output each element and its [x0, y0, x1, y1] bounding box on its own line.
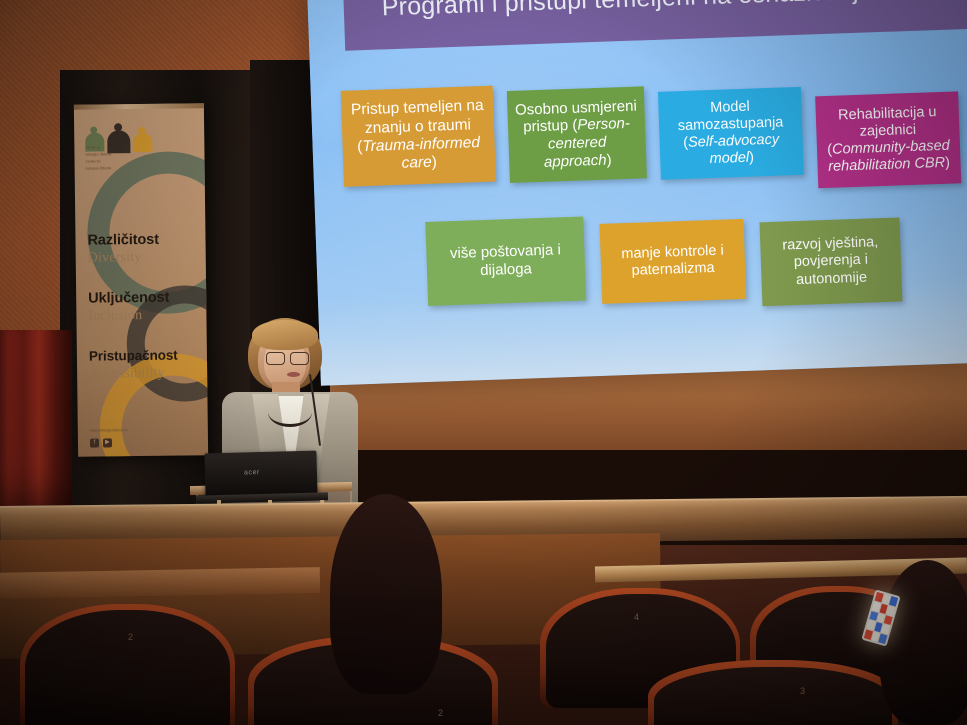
box3-italic: Self-advocacy model — [688, 132, 780, 168]
glasses-lens-left — [266, 352, 285, 365]
banner-top-rail — [74, 103, 204, 110]
seat-number-e: 3 — [800, 686, 805, 696]
banner-heading-diversity-hr: Različitost — [87, 232, 159, 249]
logo-subtitle-line4: Inclusion Šibenik — [86, 165, 158, 173]
banner-heading-accessibility-hr: Pristupačnost — [89, 348, 178, 364]
logo-subtitle: Centar za inkluziju i Šibenik Centre for… — [85, 144, 157, 173]
youtube-icon: ▶ — [103, 438, 112, 447]
logo-dot-gold — [138, 127, 145, 134]
glasses-lens-right — [290, 352, 309, 365]
seat-number-a: 2 — [128, 632, 133, 642]
audience-member-front-left — [330, 494, 442, 694]
speaker-necklace — [268, 398, 312, 427]
banner-heading-diversity-en: Diversity — [88, 250, 142, 267]
seat-number-c: 4 — [634, 612, 639, 622]
slide-box-more-respect-dialogue: više poštovanja i dijaloga — [425, 217, 586, 306]
box1-tail: ) — [431, 154, 437, 171]
seat-back-row1-a — [25, 610, 230, 725]
seat-back-row1-e — [654, 667, 892, 725]
banner-social-icons: f ▶ — [90, 438, 112, 447]
rollup-banner: Centar za inkluziju i Šibenik Centre for… — [74, 103, 208, 457]
stage-curtain-red — [0, 330, 72, 530]
logo-dot-green — [90, 127, 97, 134]
speaker-hair-front — [252, 320, 318, 350]
slide-box-row-top: Pristup temeljen na znanju o traumi (Tra… — [341, 69, 962, 204]
box4-tail: ) — [945, 155, 950, 171]
facebook-icon: f — [90, 439, 99, 448]
laptop-brand-label: acer — [244, 469, 260, 476]
slide-box-skills-autonomy: razvoj vještina, povjerenja i autonomije — [760, 217, 903, 306]
seat-number-b: 2 — [438, 708, 443, 718]
slide-box-trauma-informed-care: Pristup temeljen na znanju o traumi (Tra… — [341, 86, 496, 187]
slide-box-row-bottom: više poštovanja i dijaloga manje kontrol… — [425, 205, 902, 317]
slide-box-community-based-rehabilitation: Rehabilitacija u zajednici (Community-ba… — [815, 91, 961, 188]
box3-tail: ) — [749, 150, 754, 166]
slide-title: Programi i pristupi temeljeni na osnaživ… — [381, 0, 967, 22]
banner-website-url: www.inkluzija-sibenik.hr — [90, 428, 128, 432]
slide-box-person-centered-approach: Osobno usmjereni pristup (Person-centere… — [507, 86, 647, 183]
banner-heading-inclusion-en: Inclusion — [88, 308, 142, 325]
box1-italic: Trauma-informed care — [362, 134, 480, 172]
speaker-mouth — [287, 372, 300, 377]
box2-tail: ) — [606, 151, 612, 168]
slide-box-less-control-paternalism: manje kontrole i paternalizma — [599, 219, 746, 304]
slide-box-self-advocacy-model: Model samozastupanja (Self-advocacy mode… — [658, 87, 804, 180]
speaker-glasses — [266, 352, 310, 363]
presentation-photo-scene: Programi i pristupi temeljeni na osnaživ… — [0, 0, 967, 725]
box4-italic: Community-based rehabilitation CBR — [828, 138, 950, 175]
banner-heading-inclusion-hr: Uključenost — [88, 290, 169, 307]
banner-heading-accessibility-en: Accessibility — [89, 366, 165, 383]
projection-screen: Programi i pristupi temeljeni na osnaživ… — [307, 0, 967, 386]
audience-member-front-right — [880, 560, 967, 725]
logo-dot-dark — [114, 123, 122, 131]
